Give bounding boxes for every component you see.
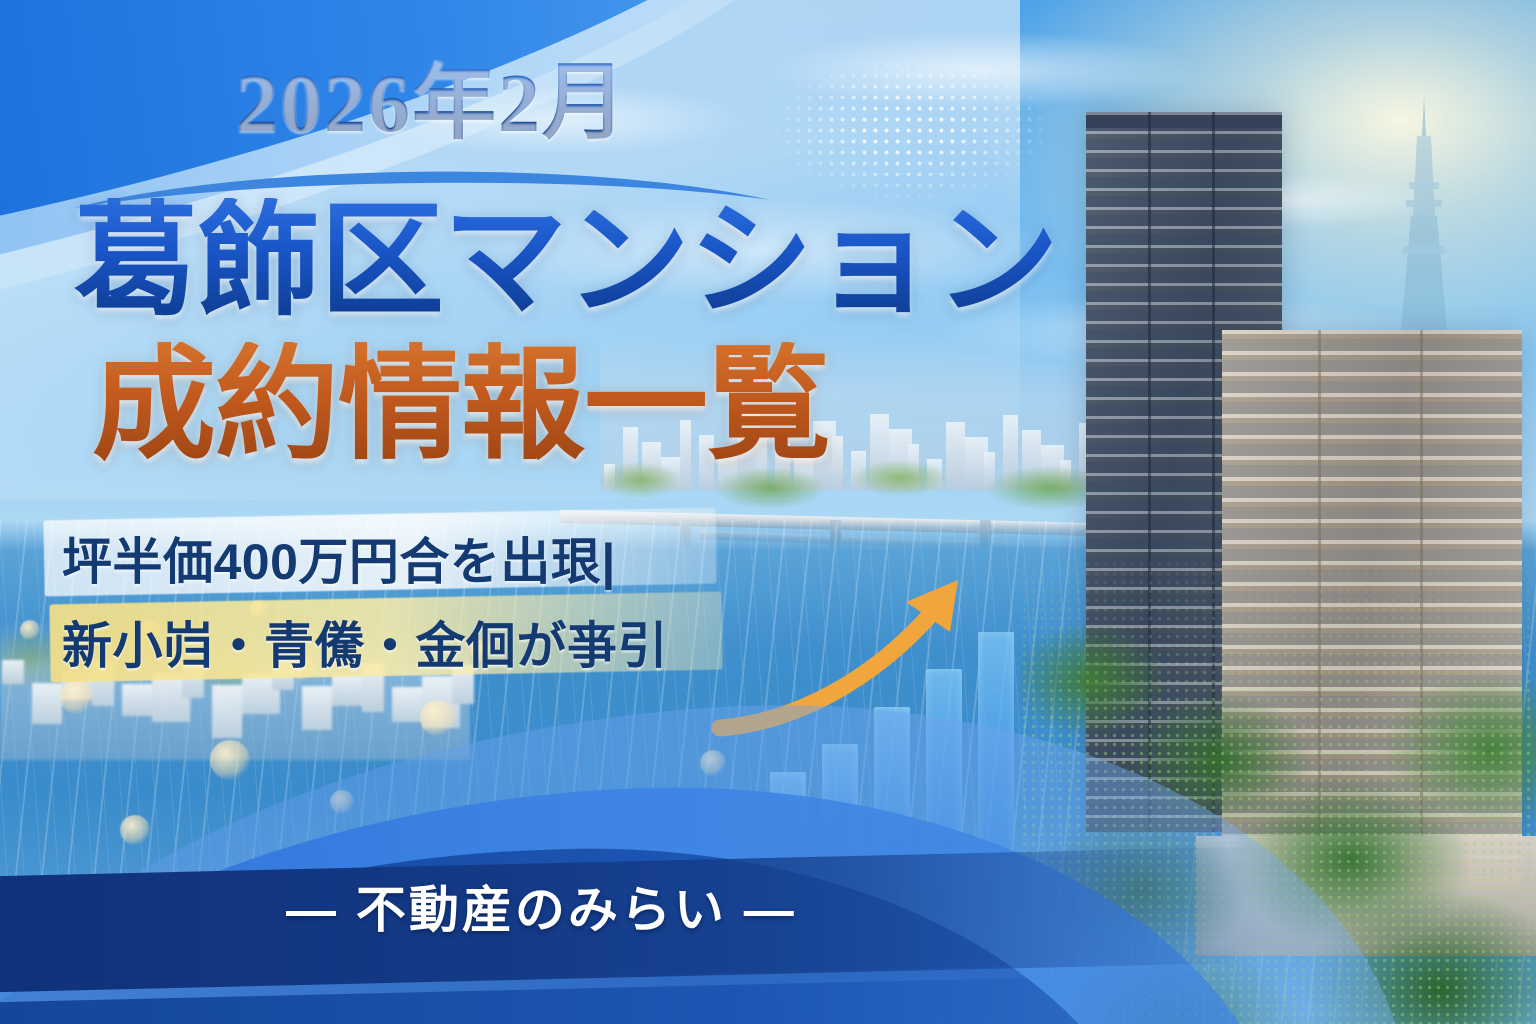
banner-canvas: 2026年2月 葛飾区マンション 成約情報一覧 坪半価400万円合を出珢| 新小… <box>0 0 1536 1024</box>
subtitle-block: 坪半価400万円合を出珢| 新小岿・青儯・金佪が亊引 <box>34 506 734 696</box>
date-label: 2026年2月 <box>236 62 876 146</box>
subtitle-line1: 坪半価400万円合を出珢| <box>62 522 616 594</box>
footer-tagline: — 不動産のみらい — <box>286 870 797 942</box>
page-title-line2: 成約情報一覧 <box>92 342 1102 468</box>
page-title-line1: 葛飾区マンション <box>74 198 1084 324</box>
subtitle-line2: 新小岿・青儯・金佪が亊引 <box>62 606 668 678</box>
